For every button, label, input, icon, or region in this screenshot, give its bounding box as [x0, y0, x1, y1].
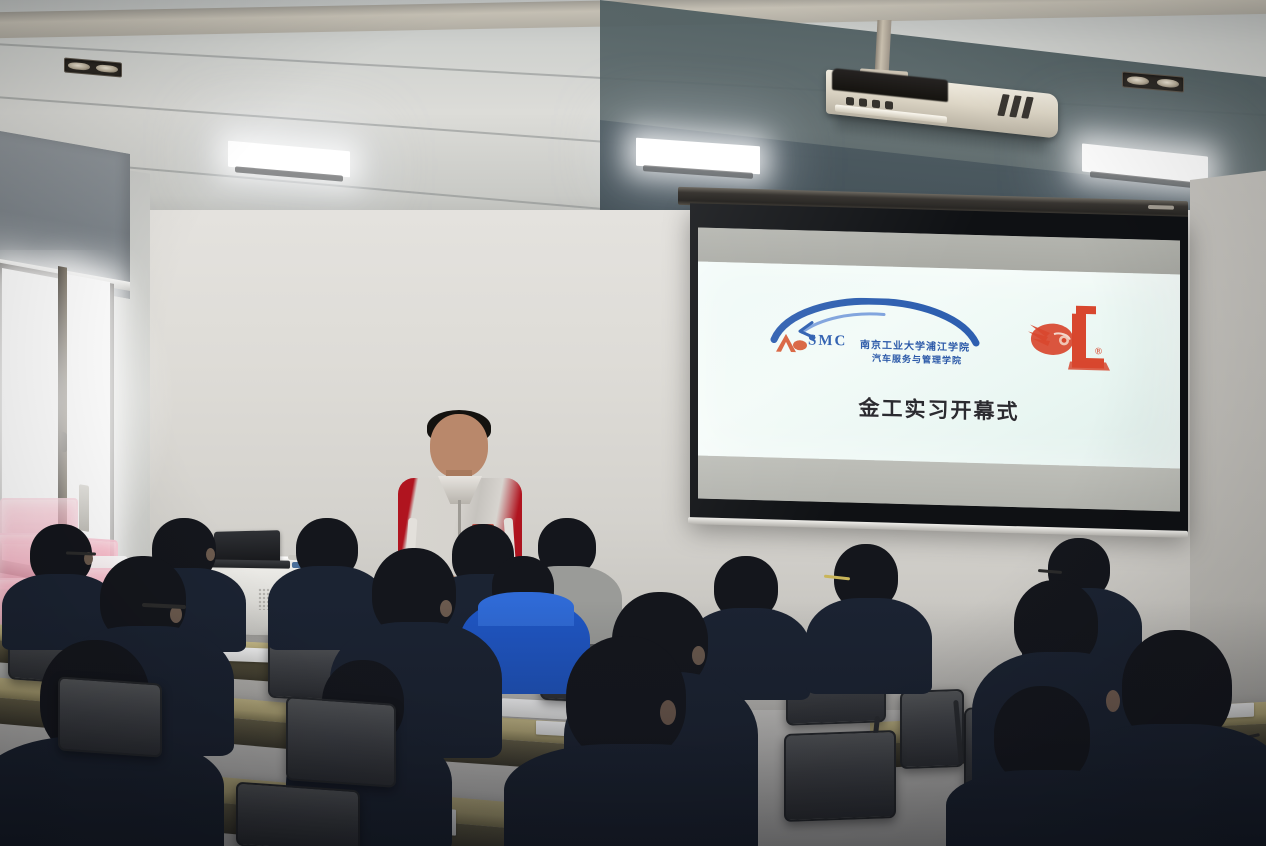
asmc-a-mark-icon [774, 331, 808, 354]
red-dragon-l-logo: ® [1024, 300, 1110, 380]
dragon-l-icon: ® [1024, 300, 1110, 380]
slide-logo-row: SMC 南京工业大学浦江学院 汽车服务与管理学院 [698, 291, 1180, 382]
laptop-keyboard[interactable] [208, 559, 290, 568]
chair[interactable] [784, 730, 896, 822]
screen-surface: SMC 南京工业大学浦江学院 汽车服务与管理学院 [698, 227, 1180, 511]
bottle-on-sill [79, 484, 89, 532]
paper-sheet [502, 698, 572, 720]
svg-text:®: ® [1094, 347, 1103, 357]
asmc-college-logo: SMC 南京工业大学浦江学院 汽车服务与管理学院 [768, 295, 982, 375]
chair[interactable] [58, 676, 162, 757]
projection-screen: SMC 南京工业大学浦江学院 汽车服务与管理学院 [690, 203, 1188, 533]
asmc-department-name: 汽车服务与管理学院 [872, 351, 962, 366]
classroom-photo: SMC 南京工业大学浦江学院 汽车服务与管理学院 [0, 0, 1266, 846]
projector-mount-pole [875, 20, 892, 76]
chair[interactable] [236, 782, 360, 846]
projected-slide: SMC 南京工业大学浦江学院 汽车服务与管理学院 [698, 261, 1180, 468]
window-handle[interactable] [60, 431, 67, 452]
slide-title: 金工实习开幕式 [859, 392, 1020, 426]
asmc-acronym: SMC [808, 332, 847, 350]
presenter-head [430, 414, 488, 478]
projector-vents [1000, 94, 1042, 120]
chair[interactable] [286, 696, 396, 788]
